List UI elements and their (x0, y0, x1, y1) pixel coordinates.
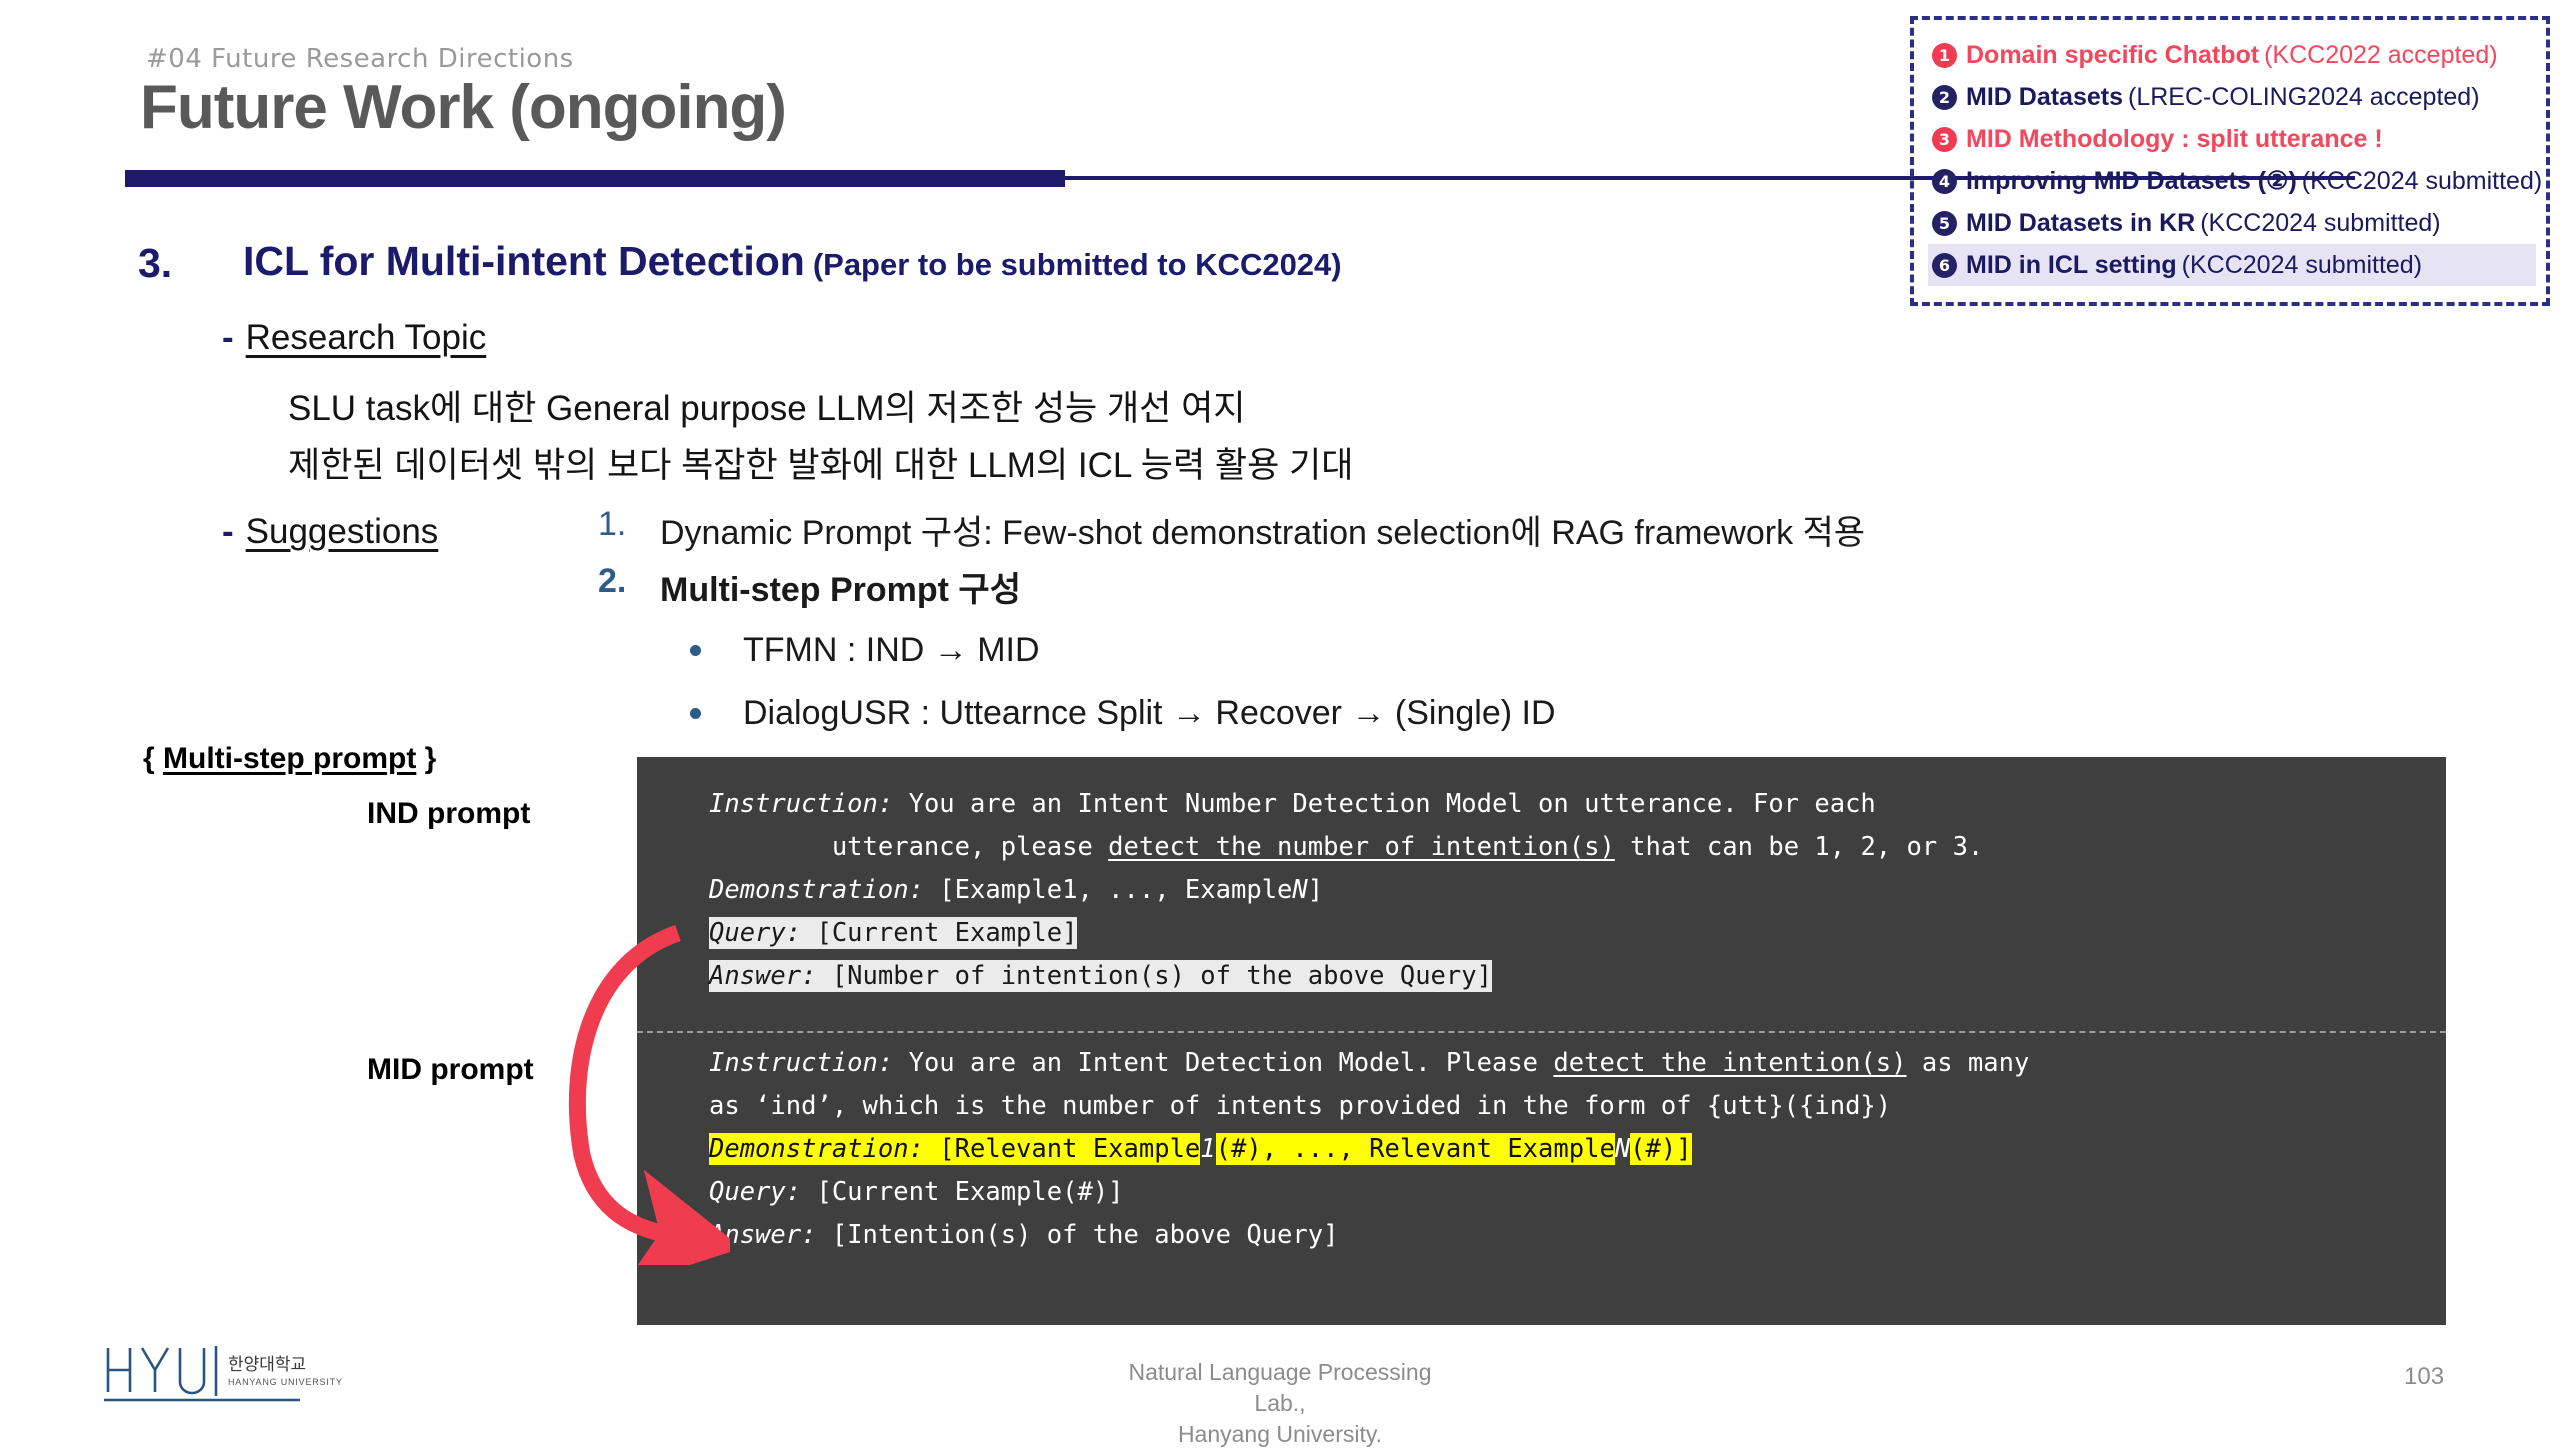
mid-demo-text-b: (#), ..., Relevant Example (1216, 1134, 1615, 1164)
ind-instruction-label: Instruction: (709, 789, 893, 819)
suggestion-index-1: 1. (598, 505, 660, 544)
roadmap-item-5-status: (KCC2024 submitted) (2200, 209, 2440, 238)
mid-demo-text-c: (#)] (1630, 1134, 1691, 1164)
ind-instruction-text-2b: that can be 1, 2, or 3. (1615, 832, 1983, 862)
mid-instruction-text-1a: You are an Intent Detection Model. Pleas… (893, 1048, 1553, 1078)
slide-kicker: #04 Future Research Directions (146, 44, 574, 74)
section-title: ICL for Multi-intent Detection(Paper to … (243, 238, 1342, 285)
mid-demo-index-n: N (1615, 1134, 1630, 1164)
ind-demo-index-1: 1 (1062, 875, 1077, 905)
ind-query-highlight: Query: [Current Example] (709, 917, 1077, 949)
hyu-logo-kr: 한양대학교 (228, 1355, 306, 1375)
roadmap-item-5[interactable]: 5 MID Datasets in KR (KCC2024 submitted) (1928, 202, 2536, 244)
ind-demonstration-label: Demonstration: (709, 875, 924, 905)
title-underline-bar (125, 170, 1065, 187)
suggestion-subitem-2: DialogUSR : Uttearnce Split → Recover → … (598, 682, 1865, 745)
research-roadmap-box: 1 Domain specific Chatbot (KCC2022 accep… (1910, 16, 2550, 306)
roadmap-item-2-status: (LREC-COLING2024 accepted) (2128, 83, 2480, 112)
mid-demo-text-a: [Relevant Example (924, 1134, 1200, 1164)
suggestion-text-2: Multi-step Prompt 구성 (660, 562, 1021, 611)
roadmap-badge-6: 6 (1932, 253, 1957, 278)
roadmap-item-5-title: MID Datasets in KR (1966, 209, 2195, 238)
mid-query-line: Query: [Current Example(#)] (709, 1171, 2446, 1214)
roadmap-item-6[interactable]: 6 MID in ICL setting (KCC2024 submitted) (1928, 244, 2536, 286)
mid-instruction-label: Instruction: (709, 1048, 893, 1078)
roadmap-item-3[interactable]: 3 MID Methodology : split utterance ! (1928, 118, 2536, 160)
prompt-code-box: Instruction: You are an Intent Number De… (637, 757, 2446, 1325)
roadmap-badge-1: 1 (1932, 43, 1957, 68)
slide: #04 Future Research Directions Future Wo… (0, 0, 2560, 1440)
suggestion-item-2: 2. Multi-step Prompt 구성 (598, 562, 1865, 619)
ind-prompt-label: IND prompt (367, 797, 530, 831)
suggestions-dash: - (222, 512, 234, 551)
prompt-section-divider (637, 1031, 2446, 1033)
multistep-brace-close: } (416, 742, 436, 775)
flow-arrow-icon (530, 905, 730, 1265)
suggestions-heading: -Suggestions (222, 512, 438, 552)
roadmap-item-2-title: MID Datasets (1966, 83, 2123, 112)
section-title-paren: (Paper to be submitted to KCC2024) (813, 247, 1342, 282)
research-topic-label: Research Topic (246, 318, 487, 357)
roadmap-item-3-title: MID Methodology : split utterance ! (1966, 125, 2383, 154)
research-topic-dash: - (222, 318, 234, 357)
section-number: 3. (138, 240, 172, 287)
suggestion-subitem-1-text: TFMN : IND → MID (743, 631, 1040, 670)
roadmap-item-6-status: (KCC2024 submitted) (2182, 251, 2422, 280)
mid-answer-text: [Intention(s) of the above Query] (816, 1220, 1338, 1250)
roadmap-badge-2: 2 (1932, 85, 1957, 110)
page-number: 103 (2404, 1363, 2444, 1391)
roadmap-item-4-status: (KCC2024 submitted) (2302, 167, 2542, 196)
footer-line-1: Natural Language Processing Lab., (1100, 1357, 1460, 1419)
mid-instruction-text-1b: as many (1907, 1048, 2030, 1078)
section-title-text: ICL for Multi-intent Detection (243, 238, 805, 284)
ind-demo-text-b: , ..., Example (1077, 875, 1292, 905)
mid-demo-index-1: 1 (1200, 1134, 1215, 1164)
multistep-label-text: Multi-step prompt (163, 742, 416, 775)
suggestions-label: Suggestions (246, 512, 439, 551)
ind-query-text: [Current Example] (801, 918, 1077, 948)
hyu-logo-en: HANYANG UNIVERSITY (228, 1377, 343, 1387)
mid-instruction-line-2: as ‘ind’, which is the number of intents… (709, 1085, 2446, 1128)
roadmap-item-2[interactable]: 2 MID Datasets (LREC-COLING2024 accepted… (1928, 76, 2536, 118)
suggestion-subitem-2-text: DialogUSR : Uttearnce Split → Recover → … (743, 694, 1556, 733)
research-topic-line-1: SLU task에 대한 General purpose LLM의 저조한 성능… (288, 380, 1245, 431)
ind-answer-highlight: Answer: [Number of intention(s) of the a… (709, 960, 1492, 992)
roadmap-item-6-title: MID in ICL setting (1966, 251, 2177, 280)
ind-instruction-text-1: You are an Intent Number Detection Model… (893, 789, 1876, 819)
suggestions-list: 1. Dynamic Prompt 구성: Few-shot demonstra… (598, 505, 1865, 745)
suggestion-item-1: 1. Dynamic Prompt 구성: Few-shot demonstra… (598, 505, 1865, 562)
footer-lab-name: Natural Language Processing Lab., Hanyan… (1100, 1357, 1460, 1450)
ind-instruction-line-2: utterance, please detect the number of i… (709, 826, 2446, 869)
hyu-logo: 한양대학교 HANYANG UNIVERSITY (100, 1340, 400, 1410)
bullet-dot-icon (690, 645, 701, 656)
roadmap-badge-4: 4 (1932, 169, 1957, 194)
ind-instruction-underlined: detect the number of intention(s) (1108, 832, 1615, 862)
suggestion-text-1: Dynamic Prompt 구성: Few-shot demonstratio… (660, 505, 1865, 554)
mid-demo-highlight: Demonstration: [Relevant Example (709, 1133, 1200, 1165)
bullet-dot-icon (690, 708, 701, 719)
suggestion-subitem-1: TFMN : IND → MID (598, 619, 1865, 682)
roadmap-item-1-title: Domain specific Chatbot (1966, 41, 2259, 70)
mid-query-text: [Current Example(#)] (801, 1177, 1123, 1207)
mid-answer-line: Answer: [Intention(s) of the above Query… (709, 1214, 2446, 1257)
multistep-brace-open: { (143, 742, 163, 775)
suggestion-index-2: 2. (598, 562, 660, 601)
ind-demo-text-c: ] (1308, 875, 1323, 905)
roadmap-item-4-title: Improving MID Datasets (②) (1966, 166, 2297, 196)
roadmap-item-1[interactable]: 1 Domain specific Chatbot (KCC2022 accep… (1928, 34, 2536, 76)
mid-instruction-underlined: detect the intention(s) (1553, 1048, 1906, 1078)
prompt-code-content: Instruction: You are an Intent Number De… (637, 757, 2446, 1257)
ind-query-line: Query: [Current Example] (709, 912, 2446, 955)
ind-demo-index-n: N (1292, 875, 1307, 905)
ind-demo-text-a: [Example (924, 875, 1062, 905)
mid-demonstration-label: Demonstration: (709, 1134, 924, 1164)
ind-answer-text: [Number of intention(s) of the above Que… (816, 961, 1492, 991)
ind-answer-line: Answer: [Number of intention(s) of the a… (709, 955, 2446, 998)
research-topic-heading: -Research Topic (222, 318, 486, 358)
ind-instruction-line-1: Instruction: You are an Intent Number De… (709, 783, 2446, 826)
code-section-gap (709, 998, 2446, 1042)
roadmap-badge-5: 5 (1932, 211, 1957, 236)
research-topic-line-2: 제한된 데이터셋 밖의 보다 복잡한 발화에 대한 LLM의 ICL 능력 활용… (288, 437, 1353, 488)
mid-demo-highlight-3: (#)] (1630, 1133, 1691, 1165)
roadmap-item-4[interactable]: 4 Improving MID Datasets (②) (KCC2024 su… (1928, 160, 2536, 202)
roadmap-badge-3: 3 (1932, 127, 1957, 152)
ind-demonstration-line: Demonstration: [Example1, ..., ExampleN] (709, 869, 2446, 912)
ind-instruction-text-2a: utterance, please (709, 832, 1108, 862)
multistep-prompt-label: { Multi-step prompt } (143, 742, 436, 776)
roadmap-item-1-status: (KCC2022 accepted) (2264, 41, 2497, 70)
mid-demonstration-line: Demonstration: [Relevant Example1(#), ..… (709, 1128, 2446, 1171)
page-title: Future Work (ongoing) (140, 72, 786, 143)
mid-instruction-line-1: Instruction: You are an Intent Detection… (709, 1042, 2446, 1085)
mid-demo-highlight-2: (#), ..., Relevant Example (1216, 1133, 1615, 1165)
footer-line-2: Hanyang University. (1100, 1419, 1460, 1450)
mid-prompt-label: MID prompt (367, 1053, 534, 1087)
